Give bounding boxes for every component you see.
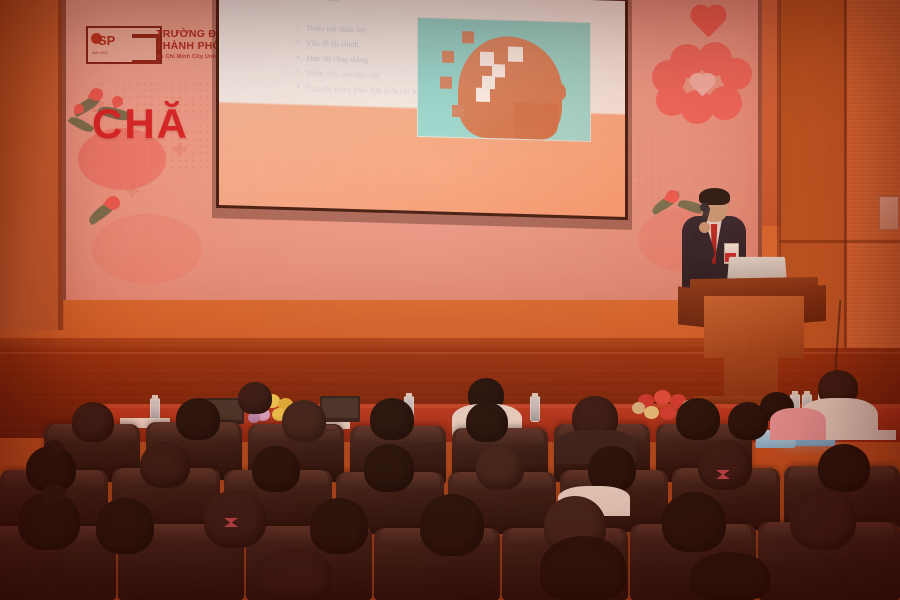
audience-head xyxy=(72,402,114,442)
audience-head xyxy=(282,400,326,442)
microphone-head-icon xyxy=(700,203,709,212)
audience-head xyxy=(476,444,524,490)
left-wall-panel xyxy=(0,0,64,330)
projection-screen: khỏe tâm thần Thiếu hụt nhân lực Vấn đề … xyxy=(216,0,628,220)
audience-head xyxy=(676,398,720,440)
audience-head xyxy=(370,398,414,440)
audience-head xyxy=(364,444,414,492)
water-bottle xyxy=(530,396,540,422)
audience-head xyxy=(176,398,220,440)
audience-head xyxy=(258,548,332,600)
right-wall-panel-b xyxy=(846,0,900,350)
audience-head xyxy=(540,536,626,600)
audience-head xyxy=(466,402,508,442)
wall-sign-plate xyxy=(879,196,899,230)
eyeglasses-icon xyxy=(316,424,338,431)
audience-head xyxy=(818,444,870,492)
right-wall-seam xyxy=(844,0,847,350)
audience-head xyxy=(790,488,856,550)
hair-bun xyxy=(44,440,64,456)
audience-head xyxy=(698,440,752,490)
conference-hall-scene: ✚ ✚ ✚ ✚ ✚ SP ĐẠI HỌC TRƯỜNG ĐẠI HỌ THÀNH… xyxy=(0,0,900,600)
audience-head xyxy=(420,494,484,556)
audience-head xyxy=(728,402,768,440)
screen-glare xyxy=(219,0,628,220)
audience-head xyxy=(96,498,154,554)
audience-head xyxy=(252,446,300,492)
banner-title-left: CHĂ xyxy=(92,100,189,148)
audience-head xyxy=(310,498,368,554)
audience-head xyxy=(140,442,190,488)
right-wall-seam-horizontal xyxy=(780,240,900,243)
audience-head xyxy=(662,492,726,552)
hair-bun xyxy=(42,484,66,504)
audience-shoulders xyxy=(770,408,826,440)
audience-head xyxy=(238,382,272,414)
audience-head xyxy=(690,552,770,600)
table-monitor xyxy=(320,396,360,422)
podium-front-panel xyxy=(704,296,804,358)
speaker-hand xyxy=(699,222,710,233)
